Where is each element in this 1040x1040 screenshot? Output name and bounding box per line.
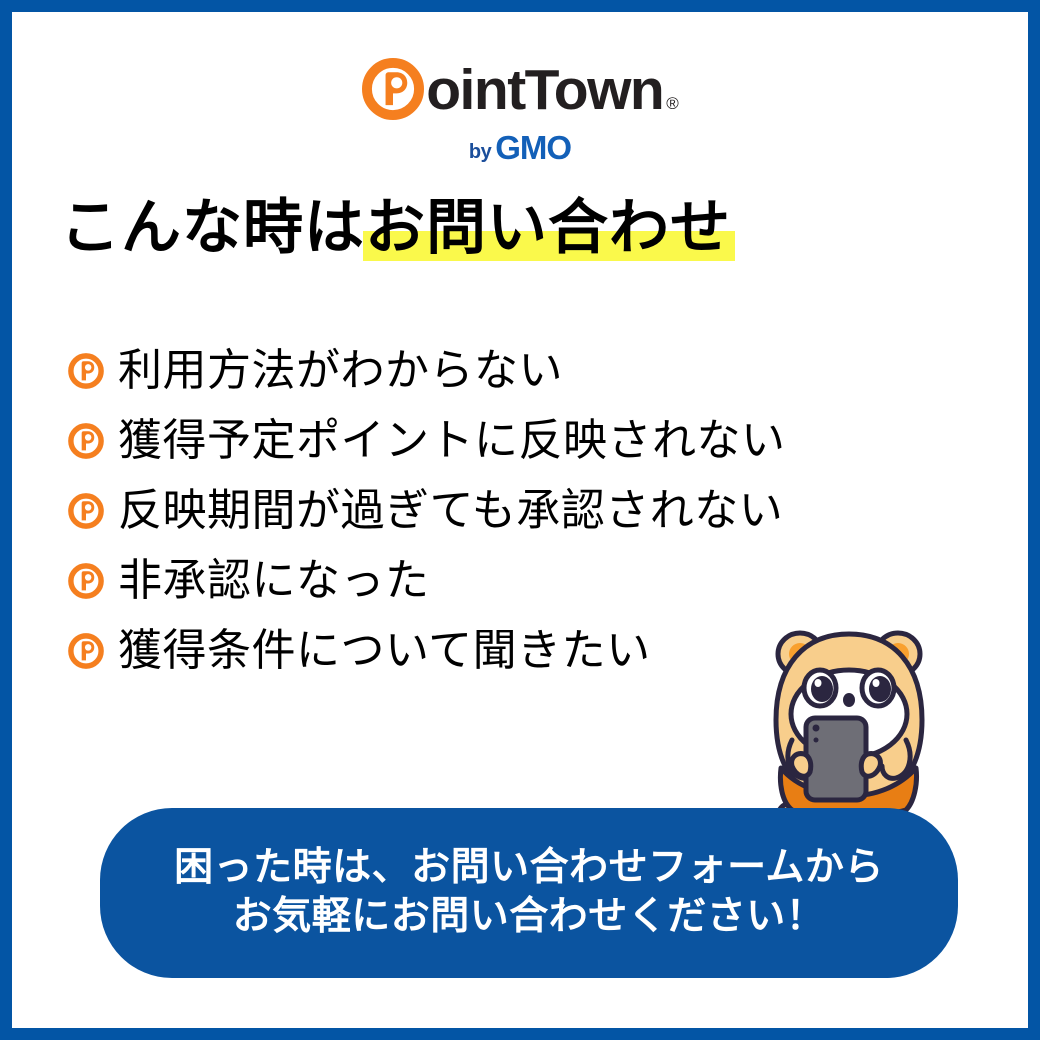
pointtown-wordmark: ointTown ® (362, 56, 678, 122)
page-title: こんな時はお問い合わせ (60, 198, 731, 258)
byline-prefix: by (469, 141, 491, 164)
cta-line-1: 困った時は、お問い合わせフォームから (174, 848, 884, 889)
list-item: 利用方法がわからない (68, 336, 858, 406)
poster-frame: ointTown ® by GMO こんな時はお問い合わせ 利用方法がわからない (0, 0, 1040, 1040)
list-item-label: 反映期間が過ぎても承認されない (118, 489, 783, 533)
page-title-plain: こんな時は (60, 194, 365, 261)
list-item-label: 利用方法がわからない (118, 349, 563, 393)
reasons-list: 利用方法がわからない 獲得予定ポイントに反映されない 反映期間が過ぎても承認され… (68, 336, 858, 686)
list-item: 反映期間が過ぎても承認されない (68, 476, 858, 546)
by-gmo-byline: by GMO (12, 131, 1028, 165)
list-item-label: 非承認になった (118, 559, 430, 603)
pointtown-p-icon (362, 58, 424, 120)
gmo-brand-text: GMO (495, 129, 571, 167)
contact-form-cta-banner[interactable]: 困った時は、お問い合わせフォームから お気軽にお問い合わせください！ (100, 808, 958, 978)
pointtown-p-icon (68, 353, 104, 389)
logo-wordmark-text: ointTown (426, 59, 663, 121)
pointtown-p-icon (68, 493, 104, 529)
pointtown-p-icon (68, 633, 104, 669)
cta-line-2: お気軽にお問い合わせください！ (233, 897, 826, 938)
brand-logo: ointTown ® by GMO (12, 56, 1028, 165)
list-item: 非承認になった (68, 546, 858, 616)
registered-trademark-icon: ® (666, 95, 679, 112)
list-item-label: 獲得条件について聞きたい (118, 629, 651, 673)
list-item: 獲得条件について聞きたい (68, 616, 858, 686)
page-title-highlighted: お問い合わせ (365, 198, 731, 258)
pointtown-p-icon (68, 423, 104, 459)
pointtown-p-icon (68, 563, 104, 599)
list-item-label: 獲得予定ポイントに反映されない (118, 419, 786, 463)
list-item: 獲得予定ポイントに反映されない (68, 406, 858, 476)
